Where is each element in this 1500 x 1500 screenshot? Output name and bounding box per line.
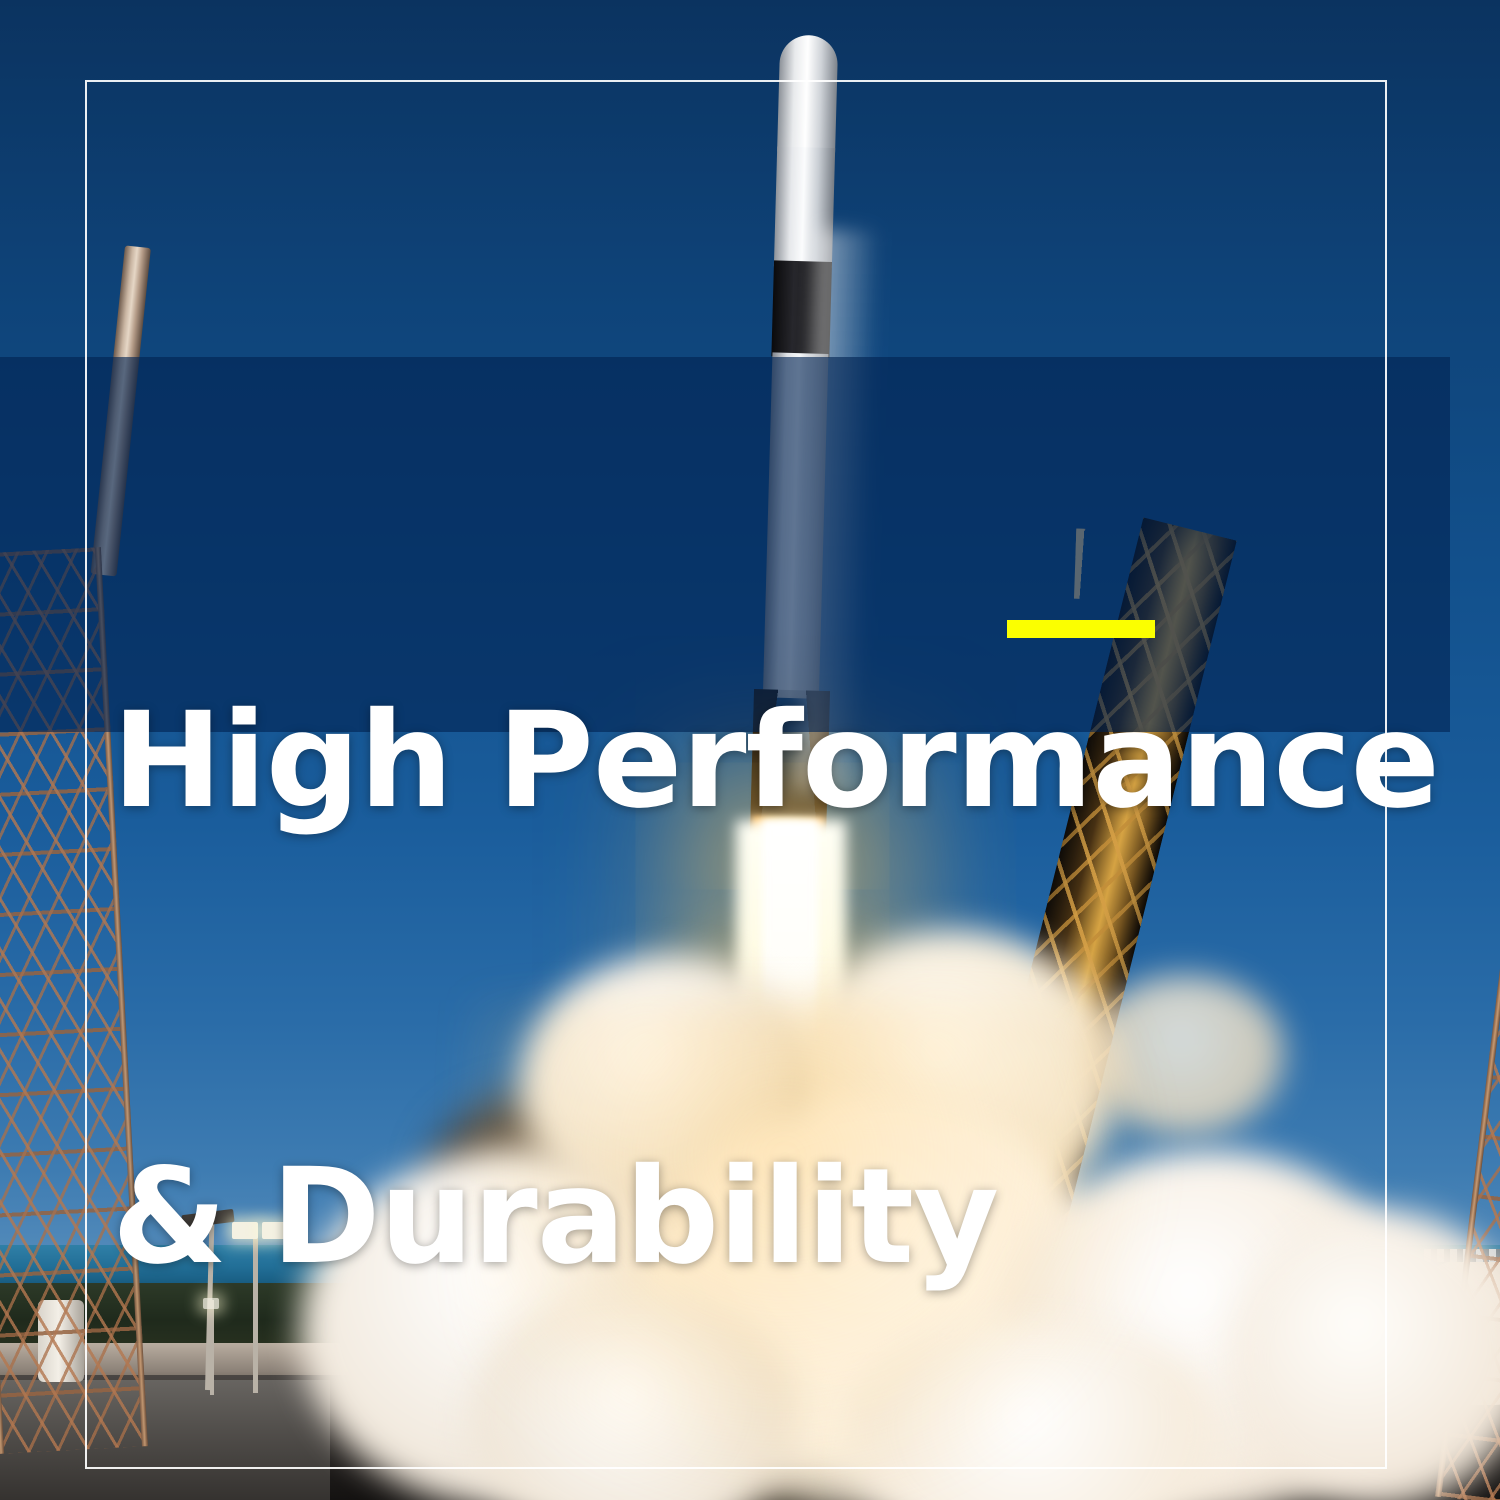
accent-dash xyxy=(1007,620,1155,638)
headline-line-1: High Performance xyxy=(112,685,1412,837)
banner-canvas: High Performance & Durability xyxy=(0,0,1500,1500)
headline-line-2: & Durability xyxy=(112,1141,1412,1293)
nose-cone xyxy=(777,35,838,157)
page-title: High Performance & Durability xyxy=(112,381,1412,1500)
